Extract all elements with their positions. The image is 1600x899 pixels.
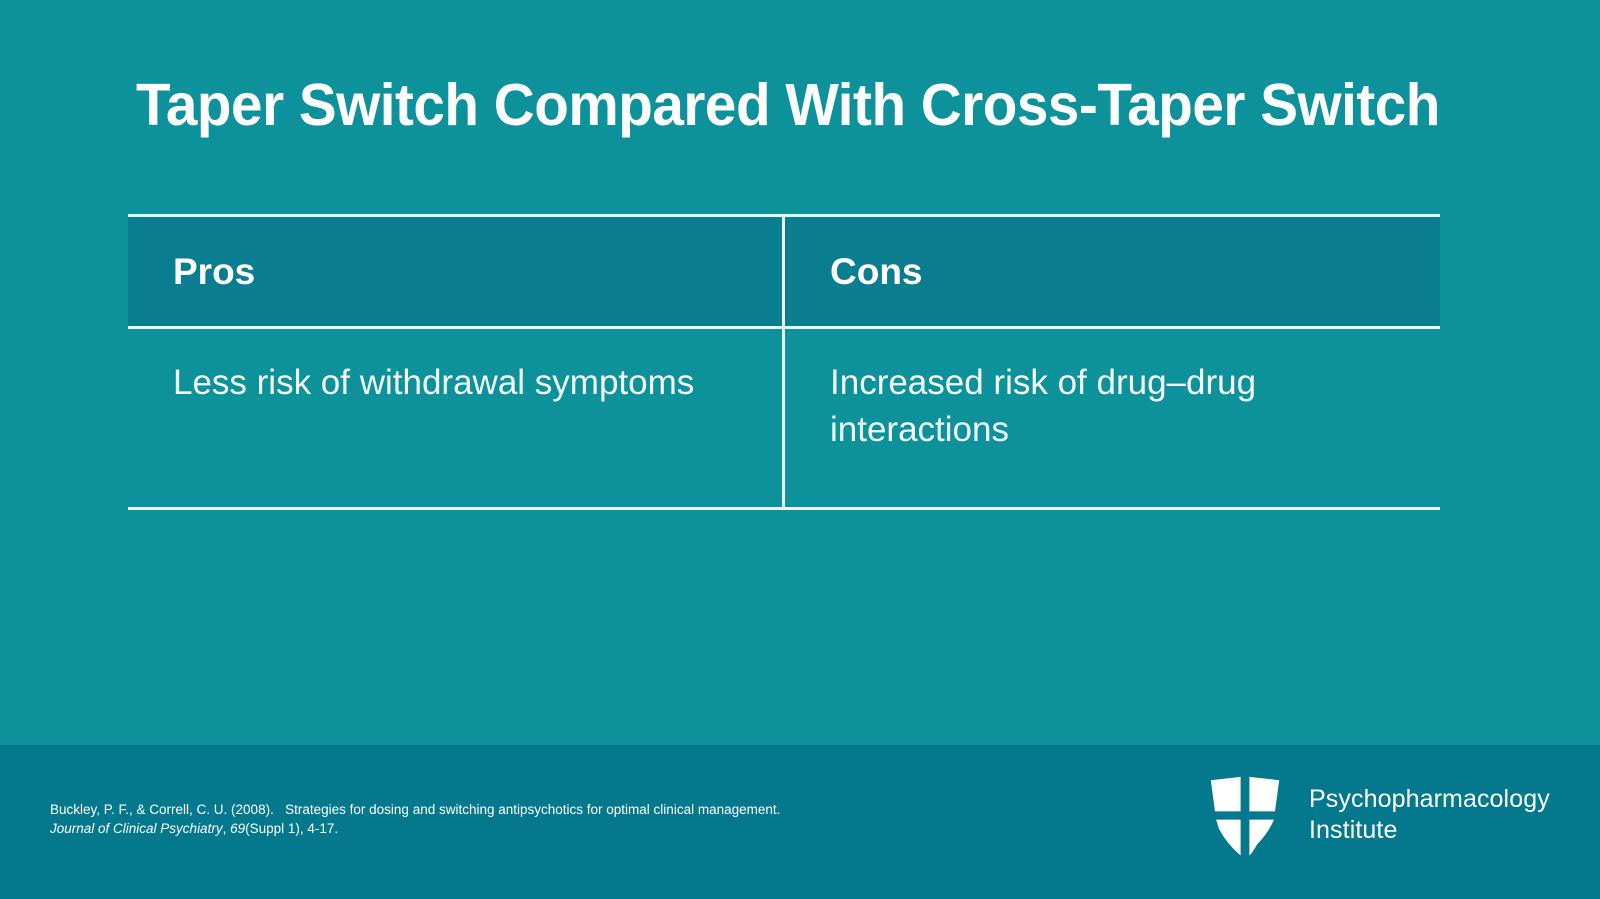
column-header-label-pros: Pros <box>128 250 255 294</box>
table-row: Less risk of withdrawal symptoms Increas… <box>128 329 1440 507</box>
table-cell-pros: Less risk of withdrawal symptoms <box>128 329 782 507</box>
citation-issue-pages: (Suppl 1), 4-17. <box>245 821 338 836</box>
citation-article-title: Strategies for dosing and switching anti… <box>285 802 780 817</box>
brand-name: Psychopharmacology Institute <box>1309 784 1550 846</box>
citation-volume: 69 <box>230 821 245 836</box>
table-header-row: Pros Cons <box>128 217 1440 329</box>
citation-separator: , <box>223 821 231 836</box>
citation-journal: Journal of Clinical Psychiatry <box>50 821 223 836</box>
table-cell-text-pros: Less risk of withdrawal symptoms <box>128 359 754 406</box>
table-cell-text-cons: Increased risk of drug–drug interactions <box>785 359 1440 453</box>
table-header-cell-cons: Cons <box>782 217 1440 326</box>
brand-logo: Psychopharmacology Institute <box>1207 772 1517 862</box>
comparison-table: Pros Cons Less risk of withdrawal sympto… <box>128 214 1440 510</box>
citation-reference: Buckley, P. F., & Correll, C. U. (2008).… <box>50 800 810 838</box>
page-title: Taper Switch Compared With Cross-Taper S… <box>136 68 1403 142</box>
slide-canvas: Taper Switch Compared With Cross-Taper S… <box>0 0 1600 899</box>
shield-icon <box>1207 772 1283 860</box>
citation-authors-year: Buckley, P. F., & Correll, C. U. (2008). <box>50 802 274 817</box>
table-cell-cons: Increased risk of drug–drug interactions <box>782 329 1440 507</box>
brand-name-line-1: Psychopharmacology <box>1309 784 1550 815</box>
column-header-label-cons: Cons <box>785 250 923 294</box>
table-header-cell-pros: Pros <box>128 217 782 326</box>
brand-name-line-2: Institute <box>1309 815 1550 846</box>
